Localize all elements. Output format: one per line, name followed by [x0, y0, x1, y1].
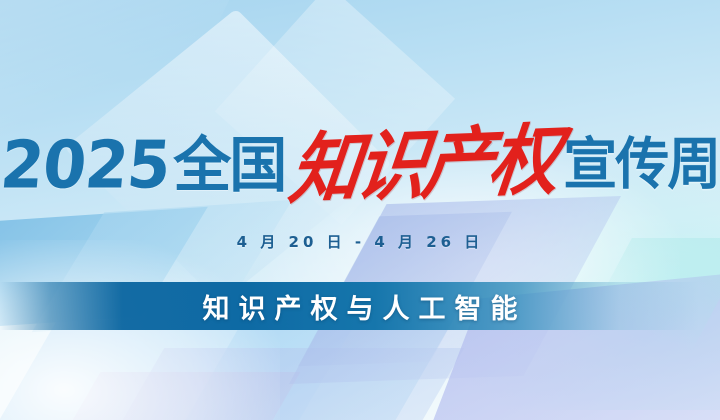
poster-headline: 2025 全国 知识产权 宣传周: [0, 122, 720, 208]
event-date-range: 4 月 20 日 - 4 月 26 日: [0, 231, 720, 252]
headline-scope: 全国: [173, 135, 285, 195]
headline-suffix: 宣传周: [563, 137, 719, 193]
headline-year: 2025: [0, 132, 172, 198]
promo-poster: 2025 全国 知识产权 宣传周 4 月 20 日 - 4 月 26 日 知识产…: [0, 0, 720, 420]
slogan-text: 知识产权与人工智能: [0, 282, 720, 330]
poster-content: 2025 全国 知识产权 宣传周 4 月 20 日 - 4 月 26 日 知识产…: [0, 0, 720, 420]
headline-highlight: 知识产权: [286, 121, 561, 208]
